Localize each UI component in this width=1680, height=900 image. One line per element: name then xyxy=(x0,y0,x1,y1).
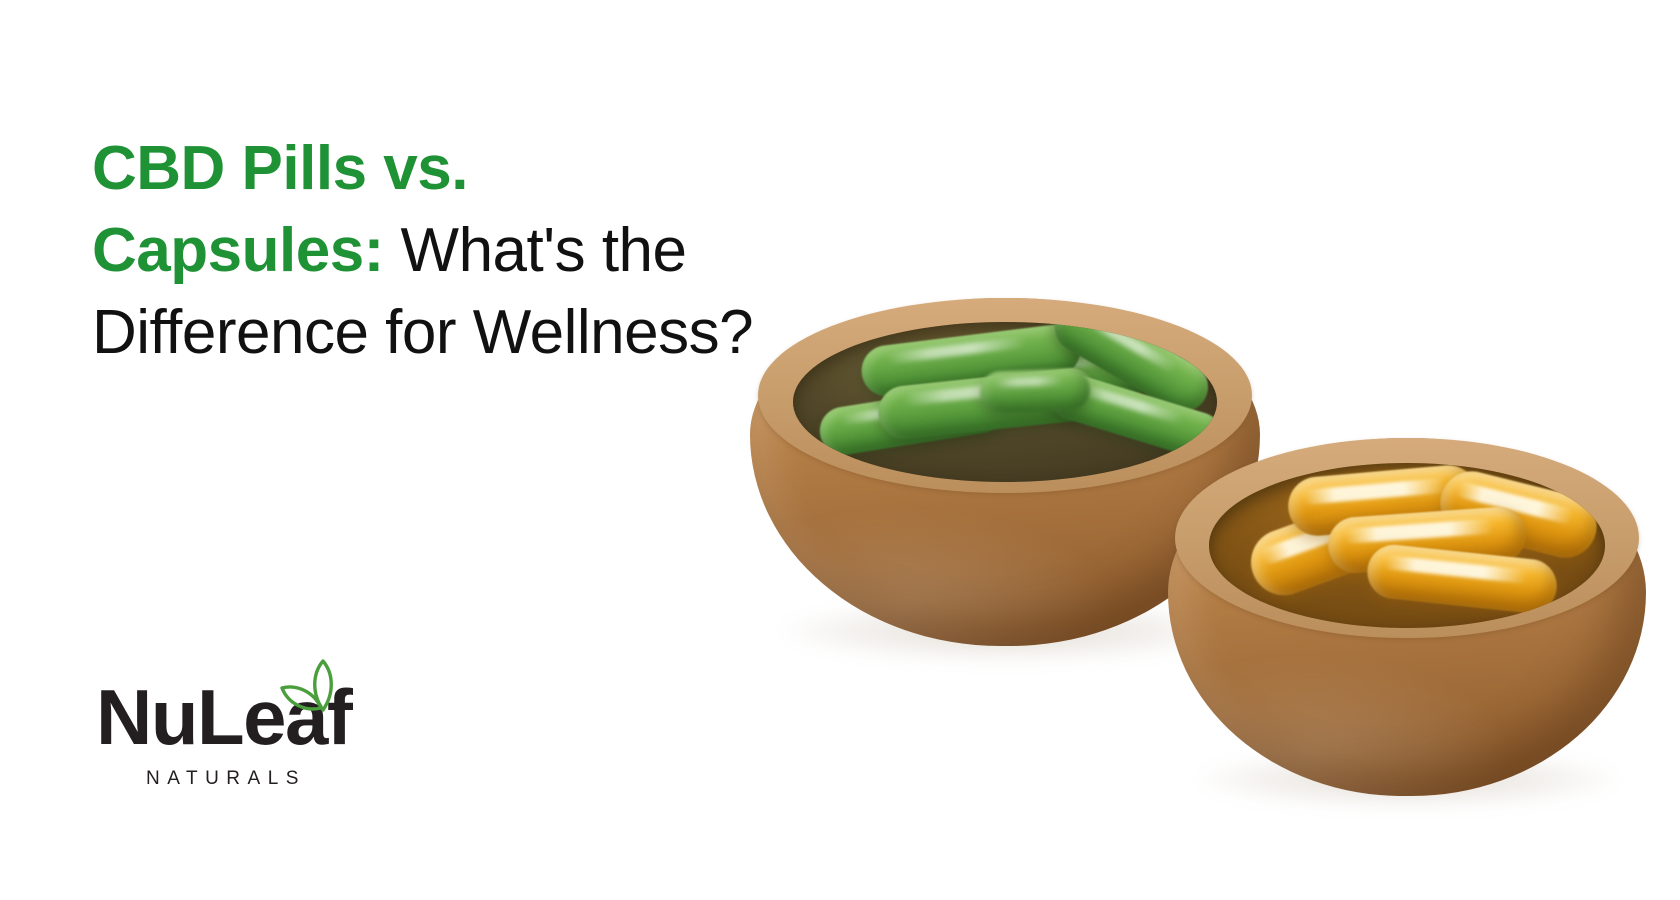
logo-mark: NuLeaf xyxy=(96,660,368,760)
bowl-interior xyxy=(793,322,1216,482)
page-title: CBD Pills vs. Capsules: What's the Diffe… xyxy=(92,128,772,375)
logo-tagline: NATURALS xyxy=(146,768,306,790)
brand-logo[interactable]: NuLeaf NATURALS xyxy=(96,660,396,800)
bowl-interior xyxy=(1209,463,1606,628)
banner-canvas: CBD Pills vs. Capsules: What's the Diffe… xyxy=(0,0,1680,900)
product-artwork xyxy=(690,270,1670,830)
amber-softgels-bowl xyxy=(1168,438,1646,796)
leaf-icon xyxy=(274,658,352,724)
green-capsule xyxy=(979,368,1090,413)
amber-softgel xyxy=(1365,542,1560,616)
